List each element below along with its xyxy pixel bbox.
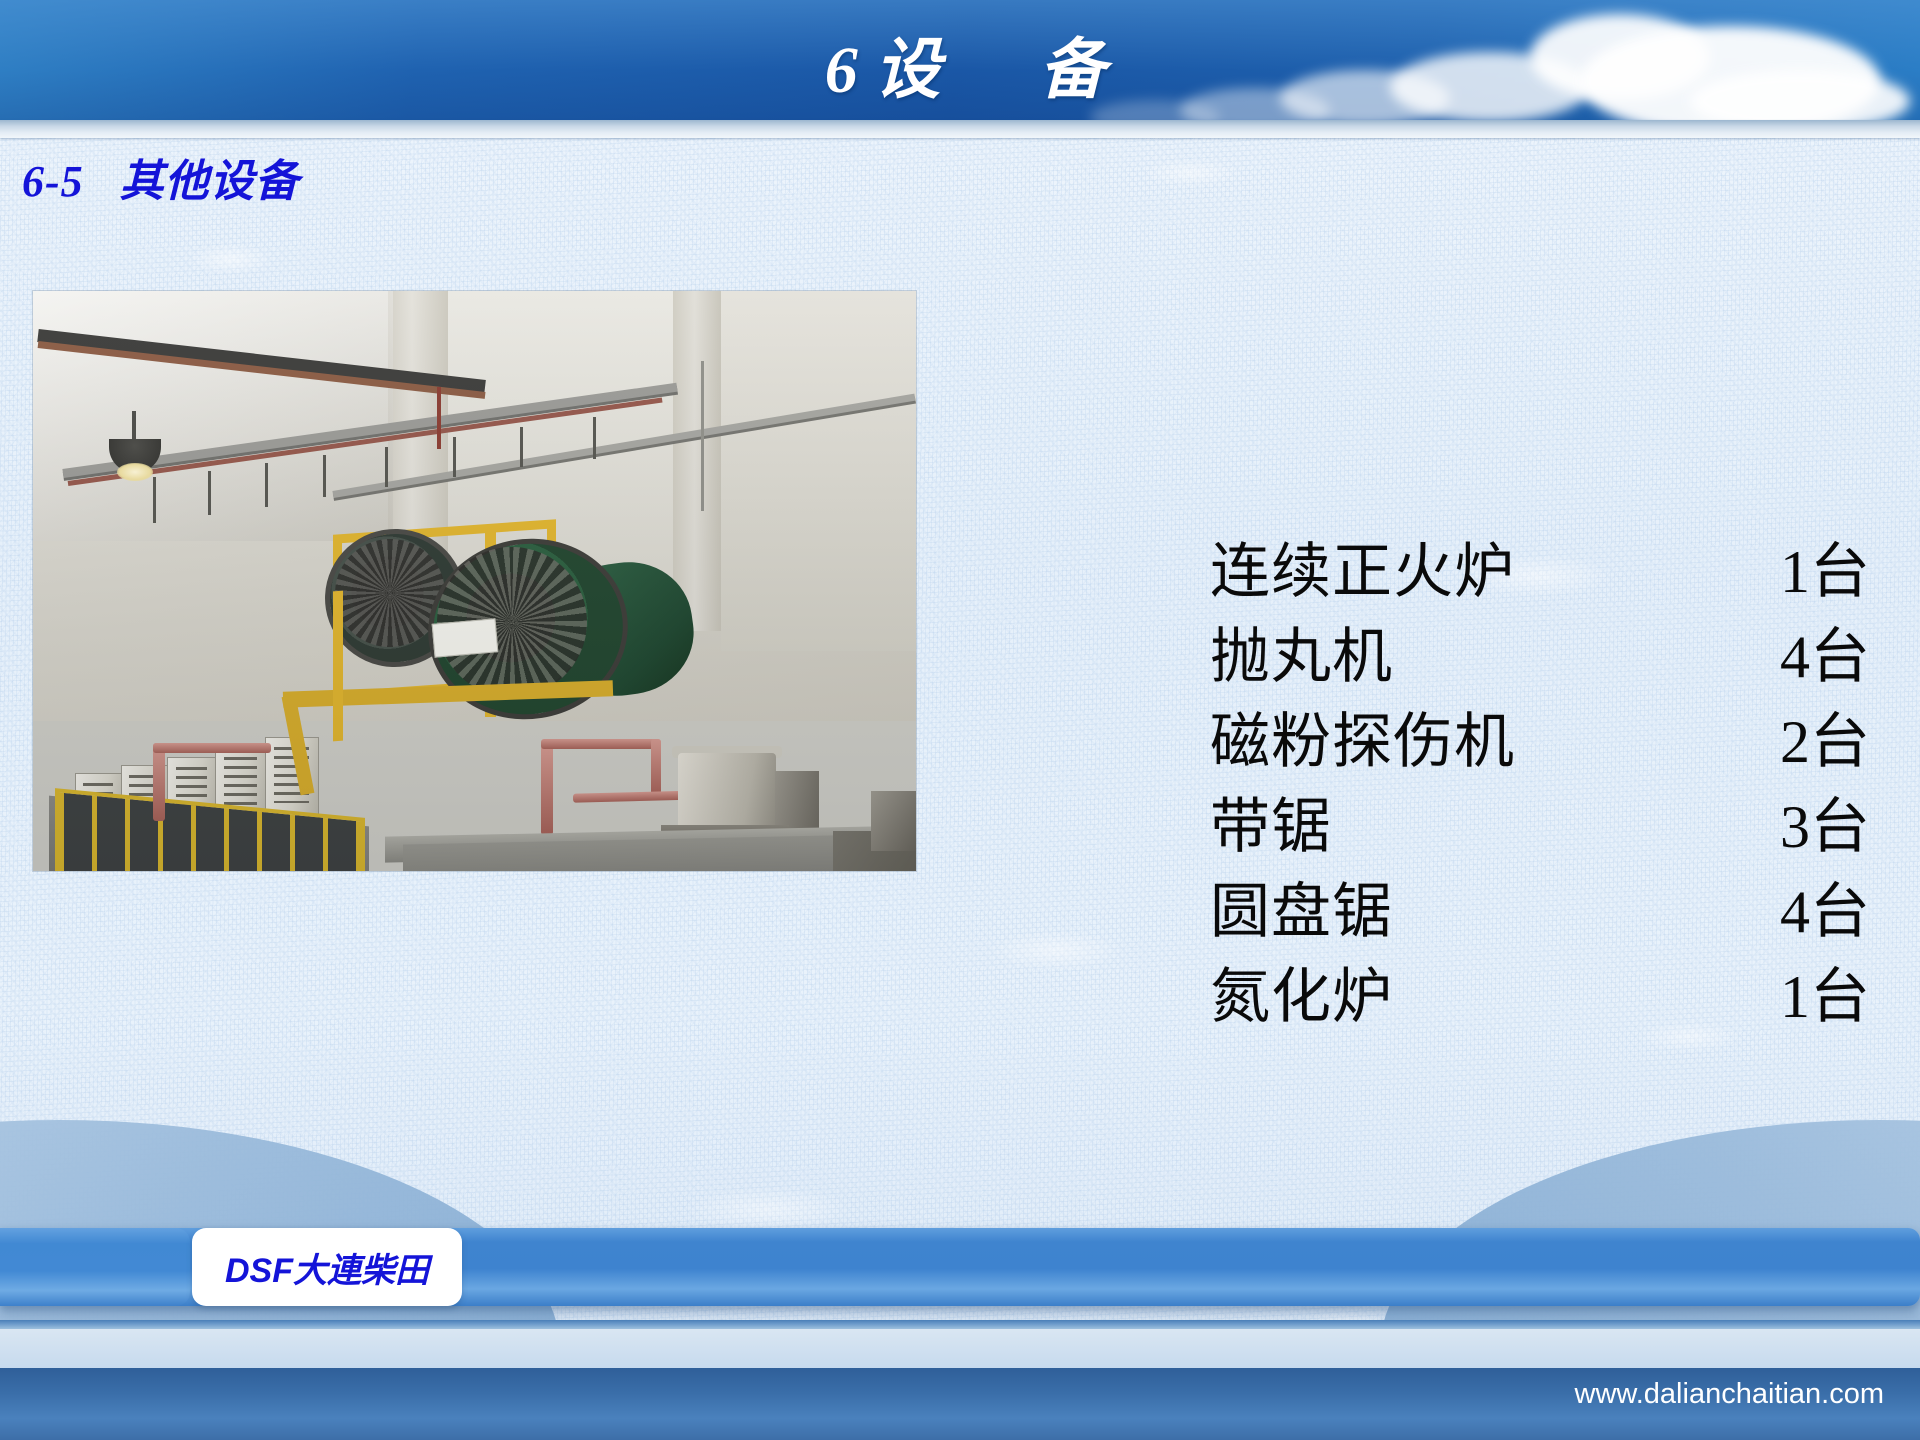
list-item: 磁粉探伤机 2台 xyxy=(1210,700,1870,785)
page-title: 6 设 备 xyxy=(0,0,1920,128)
footer-separator xyxy=(0,1320,1920,1329)
equipment-name: 圆盘锯 xyxy=(1210,870,1393,955)
equipment-name: 抛丸机 xyxy=(1210,615,1393,700)
equipment-quantity: 4台 xyxy=(1780,615,1870,700)
list-item: 圆盘锯 4台 xyxy=(1210,870,1870,955)
equipment-name: 磁粉探伤机 xyxy=(1210,700,1515,785)
equipment-list: 连续正火炉 1台 抛丸机 4台 磁粉探伤机 2台 带锯 3台 圆盘锯 4台 氮化… xyxy=(1210,530,1870,1040)
equipment-quantity: 1台 xyxy=(1780,530,1870,615)
header-divider xyxy=(0,120,1920,138)
equipment-name: 连续正火炉 xyxy=(1210,530,1515,615)
equipment-quantity: 2台 xyxy=(1780,700,1870,785)
slide-root: 6 设 备 6-5 其他设备 xyxy=(0,0,1920,1440)
equipment-quantity: 3台 xyxy=(1780,785,1870,870)
website-url: www.dalianchaitian.com xyxy=(1575,1378,1884,1411)
equipment-photo xyxy=(33,291,916,871)
equipment-quantity: 1台 xyxy=(1780,955,1870,1040)
list-item: 带锯 3台 xyxy=(1210,785,1870,870)
list-item: 抛丸机 4台 xyxy=(1210,615,1870,700)
section-subtitle: 6-5 其他设备 xyxy=(22,145,300,209)
list-item: 氮化炉 1台 xyxy=(1210,955,1870,1040)
company-logo-text: DSF大連柴田 xyxy=(225,1243,429,1292)
equipment-name: 氮化炉 xyxy=(1210,955,1393,1040)
footer-band-notch xyxy=(0,1228,190,1306)
equipment-name: 带锯 xyxy=(1210,785,1332,870)
photo-overlay-shade xyxy=(33,291,916,871)
company-logo: DSF大連柴田 xyxy=(192,1228,462,1306)
equipment-quantity: 4台 xyxy=(1780,870,1870,955)
list-item: 连续正火炉 1台 xyxy=(1210,530,1870,615)
